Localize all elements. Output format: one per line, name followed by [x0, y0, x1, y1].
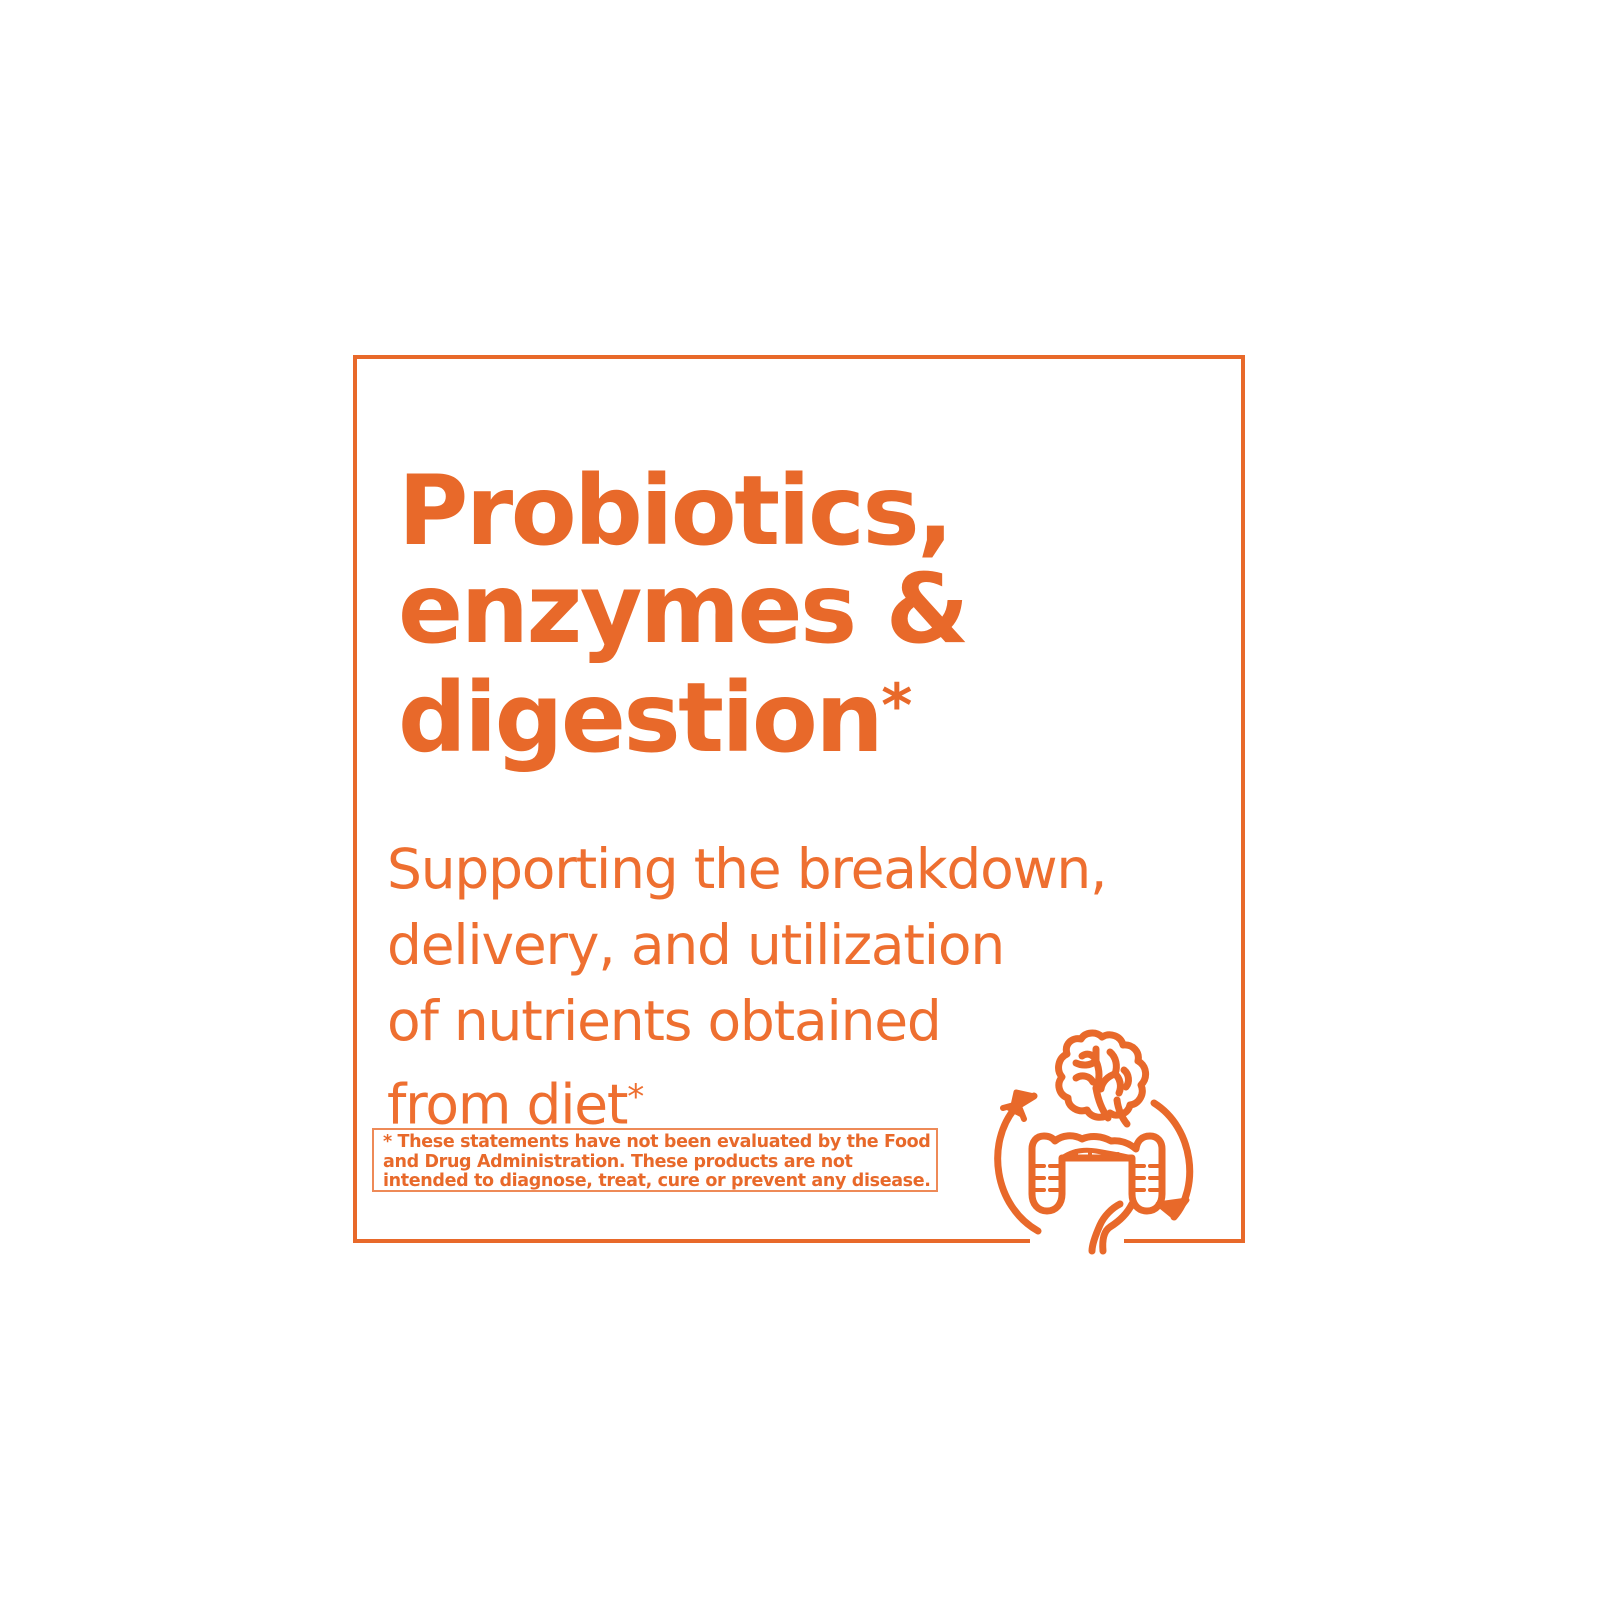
- poster-canvas: Probiotics, enzymes & digestion* Support…: [0, 0, 1600, 1600]
- disclaimer-box: * These statements have not been evaluat…: [372, 1128, 938, 1192]
- frame-bottom-edge-left: [353, 1239, 1030, 1243]
- page-title: Probiotics, enzymes & digestion*: [398, 462, 1018, 767]
- intestine-icon: [1032, 1136, 1162, 1251]
- frame-right-edge: [1241, 355, 1245, 1243]
- page-title-footnote-marker: *: [881, 672, 912, 741]
- brain-icon: [1059, 1033, 1146, 1124]
- page-subtitle-footnote-marker: *: [627, 1077, 644, 1117]
- gut-brain-axis-icon: [972, 1008, 1212, 1256]
- frame-left-edge: [353, 355, 357, 1243]
- disclaimer-text: * These statements have not been evaluat…: [383, 1133, 935, 1192]
- frame-top-edge: [353, 355, 1245, 359]
